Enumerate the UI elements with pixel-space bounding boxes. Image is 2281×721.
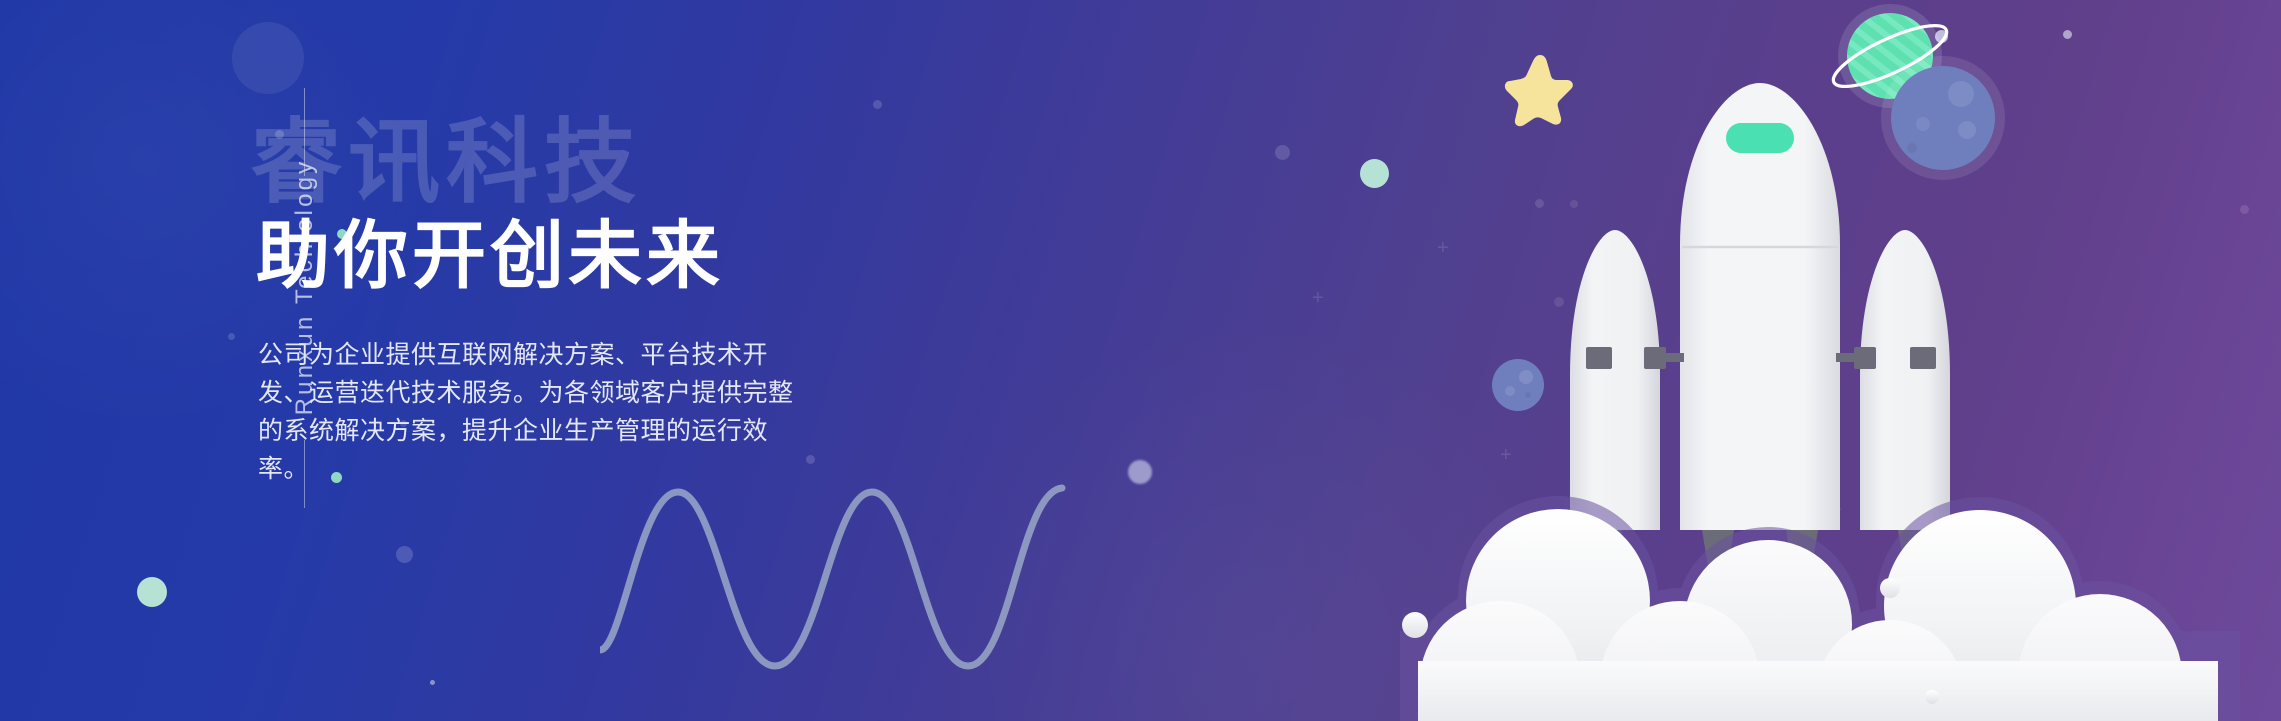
page-title: 助你开创未来 bbox=[256, 196, 724, 303]
rocket-scene bbox=[1380, 0, 2281, 721]
dot-white-small-a bbox=[430, 680, 435, 685]
dot-white-cloud-far-right bbox=[1925, 690, 1939, 704]
dot-faint-d bbox=[806, 455, 815, 464]
dot-faint-b bbox=[228, 333, 235, 340]
dot-violet-mid bbox=[1275, 145, 1290, 160]
sine-wave-icon bbox=[600, 470, 1240, 675]
sparkle-plus-icon-c: + bbox=[1312, 288, 1324, 308]
dot-violet-left bbox=[396, 546, 413, 563]
dot-faint-f bbox=[873, 100, 882, 109]
small-planet-icon bbox=[1488, 355, 1548, 420]
hero-banner: + + + + + Runxun Techlology 睿讯科技 助你开创未来 … bbox=[0, 0, 2281, 721]
dot-white-cloud-right bbox=[1880, 578, 1900, 598]
dot-white-cloud-left bbox=[1402, 612, 1428, 638]
cloud-icon bbox=[1380, 491, 2281, 721]
description-text: 公司为企业提供互联网解决方案、平台技术开发、运营迭代技术服务。为各领域客户提供完… bbox=[258, 336, 803, 488]
dot-mint-left bbox=[137, 577, 167, 607]
